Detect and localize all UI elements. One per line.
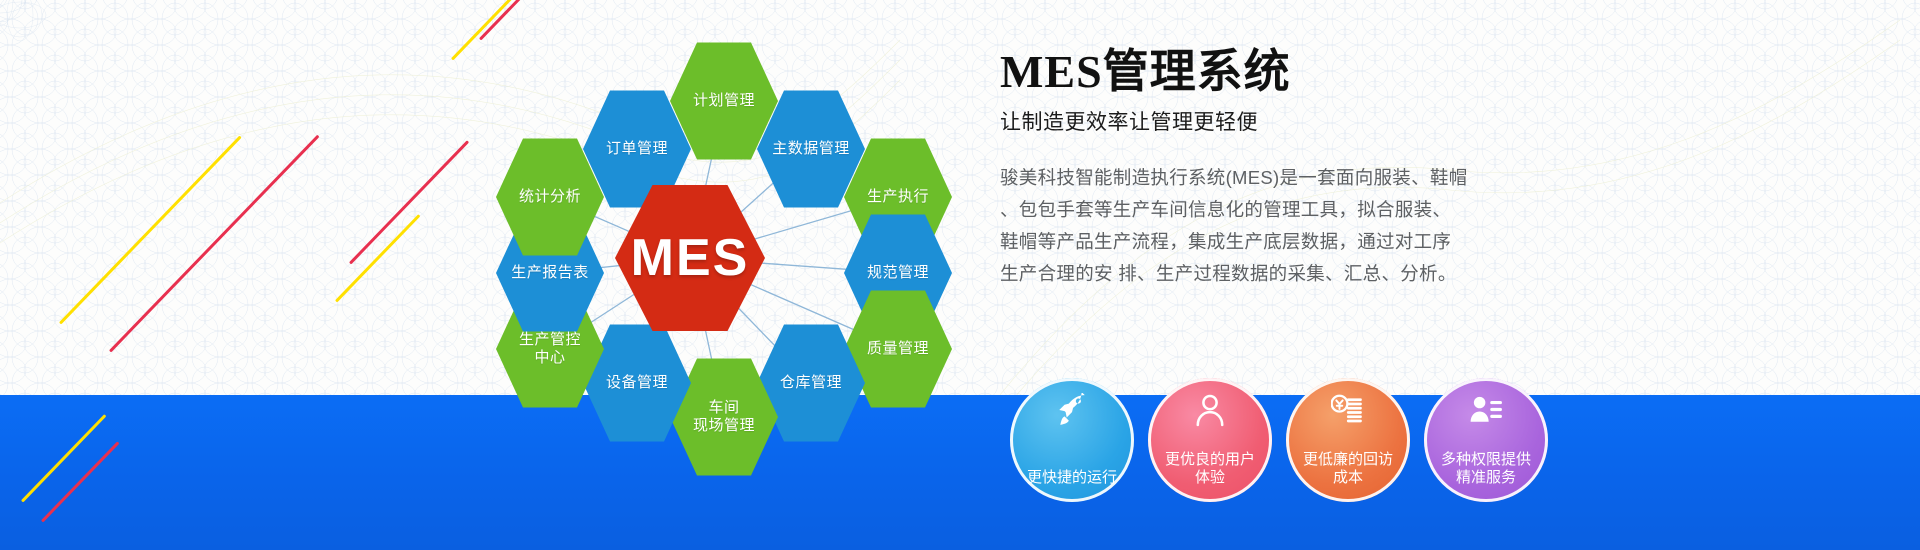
hex-node-label: 质量管理: [867, 340, 929, 358]
hero-banner: 计划管理主数据管理生产执行规范管理质量管理仓库管理车间现场管理设备管理生产管控中…: [0, 0, 1920, 550]
hex-node-label: 规范管理: [867, 264, 929, 282]
badge-label: 更优良的用户体验: [1156, 451, 1264, 489]
feature-badge[interactable]: 更优良的用户体验: [1148, 378, 1272, 502]
hex-node-label: 统计分析: [519, 188, 581, 206]
feature-badge-list: 更快捷的运行更优良的用户体验更低廉的回访成本多种权限提供精准服务: [1010, 378, 1570, 488]
feature-badge[interactable]: 多种权限提供精准服务: [1424, 378, 1548, 502]
hex-node-label: 生产管控中心: [519, 331, 581, 367]
paragraph-line: 生产合理的安 排、生产过程数据的采集、汇总、分析。: [1000, 258, 1560, 290]
hex-center-label: MES: [631, 227, 750, 289]
badge-label: 更快捷的运行: [1018, 469, 1126, 488]
hex-node-label: 车间现场管理: [693, 399, 755, 435]
coins-icon: [1331, 393, 1365, 427]
feature-badge[interactable]: 更快捷的运行: [1010, 378, 1134, 502]
permissions-icon: [1469, 393, 1503, 427]
hex-node-label: 仓库管理: [780, 374, 842, 392]
paragraph-line: 鞋帽等产品生产流程，集成生产底层数据，通过对工序: [1000, 226, 1560, 258]
rocket-icon: [1055, 393, 1089, 427]
badge-label: 更低廉的回访成本: [1294, 451, 1402, 489]
hex-node-label: 订单管理: [606, 140, 668, 158]
page-subtitle: 让制造更效率让管理更轻便: [1000, 106, 1560, 136]
hex-node-label: 计划管理: [693, 92, 755, 110]
hex-node-label: 生产报告表: [511, 264, 589, 282]
page-title: MES管理系统: [1000, 48, 1560, 96]
badge-label: 多种权限提供精准服务: [1432, 451, 1540, 489]
mes-hexagon-diagram: 计划管理主数据管理生产执行规范管理质量管理仓库管理车间现场管理设备管理生产管控中…: [400, 10, 980, 510]
hero-copy: MES管理系统 让制造更效率让管理更轻便 骏美科技智能制造执行系统(MES)是一…: [1000, 48, 1560, 290]
hex-node-label: 主数据管理: [772, 140, 850, 158]
hex-node-label: 生产执行: [867, 188, 929, 206]
user-icon: [1193, 393, 1227, 427]
feature-badge[interactable]: 更低廉的回访成本: [1286, 378, 1410, 502]
paragraph-line: 骏美科技智能制造执行系统(MES)是一套面向服装、鞋帽: [1000, 162, 1560, 194]
hex-node-label: 设备管理: [606, 374, 668, 392]
paragraph-line: 、包包手套等生产车间信息化的管理工具，拟合服装、: [1000, 194, 1560, 226]
hero-paragraph: 骏美科技智能制造执行系统(MES)是一套面向服装、鞋帽、包包手套等生产车间信息化…: [1000, 162, 1560, 289]
